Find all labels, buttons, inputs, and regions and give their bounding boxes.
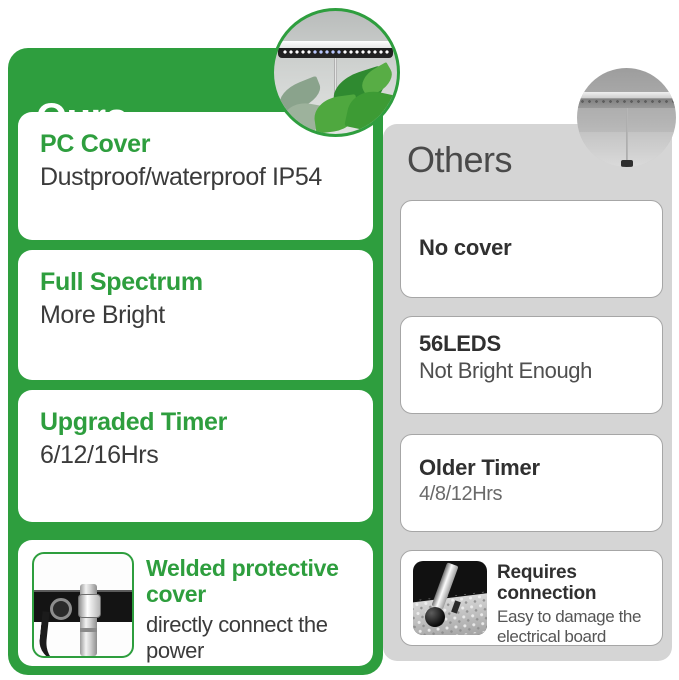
others-card-heading: Older Timer [419,455,644,480]
others-card-56leds: 56LEDS Not Bright Enough [400,316,663,414]
ours-card-heading: Welded protective cover [146,556,359,608]
ours-card-subtext: More Bright [40,300,351,330]
ours-panel: Ours PC Cover Dustproof/waterproof IP54 … [8,48,383,675]
light-stand-pole [626,108,628,166]
ours-card-full-spectrum: Full Spectrum More Bright [18,250,373,380]
ours-card-heading: PC Cover [40,130,351,158]
ours-card-welded-cover-text: Welded protective cover directly connect… [146,552,359,664]
others-card-subtext: Easy to damage the electrical board [497,607,650,647]
others-card-heading: 56LEDS [419,331,644,356]
others-card-heading: No cover [419,235,644,260]
pole-connector-cap [78,594,101,618]
others-title: Others [407,142,512,178]
blue-led-row [312,48,342,56]
others-card-requires-connection-text: Requires connection Easy to damage the e… [497,561,650,647]
power-cable [38,611,63,658]
pole-ring [80,628,97,632]
others-card-heading: Requires connection [497,563,650,605]
ours-card-subtext: directly connect the power [146,612,359,665]
connector-knob [425,607,445,627]
stand-base [621,160,633,167]
led-array [413,589,487,635]
others-card-subtext: 4/8/12Hrs [419,482,644,506]
others-card-requires-connection: Requires connection Easy to damage the e… [400,550,663,646]
ours-product-photo [271,8,400,137]
welded-cover-thumbnail-image [32,552,134,658]
ours-card-heading: Upgraded Timer [40,408,351,436]
ours-card-upgraded-timer: Upgraded Timer 6/12/16Hrs [18,390,373,522]
others-product-photo [577,68,676,167]
others-card-no-cover: No cover [400,200,663,298]
others-panel: Others No cover 56LEDS Not Bright Enough… [383,124,672,661]
ours-card-welded-cover: Welded protective cover directly connect… [18,540,373,666]
ours-card-subtext: 6/12/16Hrs [40,440,351,470]
ours-card-heading: Full Spectrum [40,268,351,296]
others-card-subtext: Not Bright Enough [419,358,644,384]
electrical-board-thumbnail-image [413,561,487,635]
others-card-older-timer: Older Timer 4/8/12Hrs [400,434,663,532]
ours-card-subtext: Dustproof/waterproof IP54 [40,162,351,192]
led-row [579,98,675,105]
